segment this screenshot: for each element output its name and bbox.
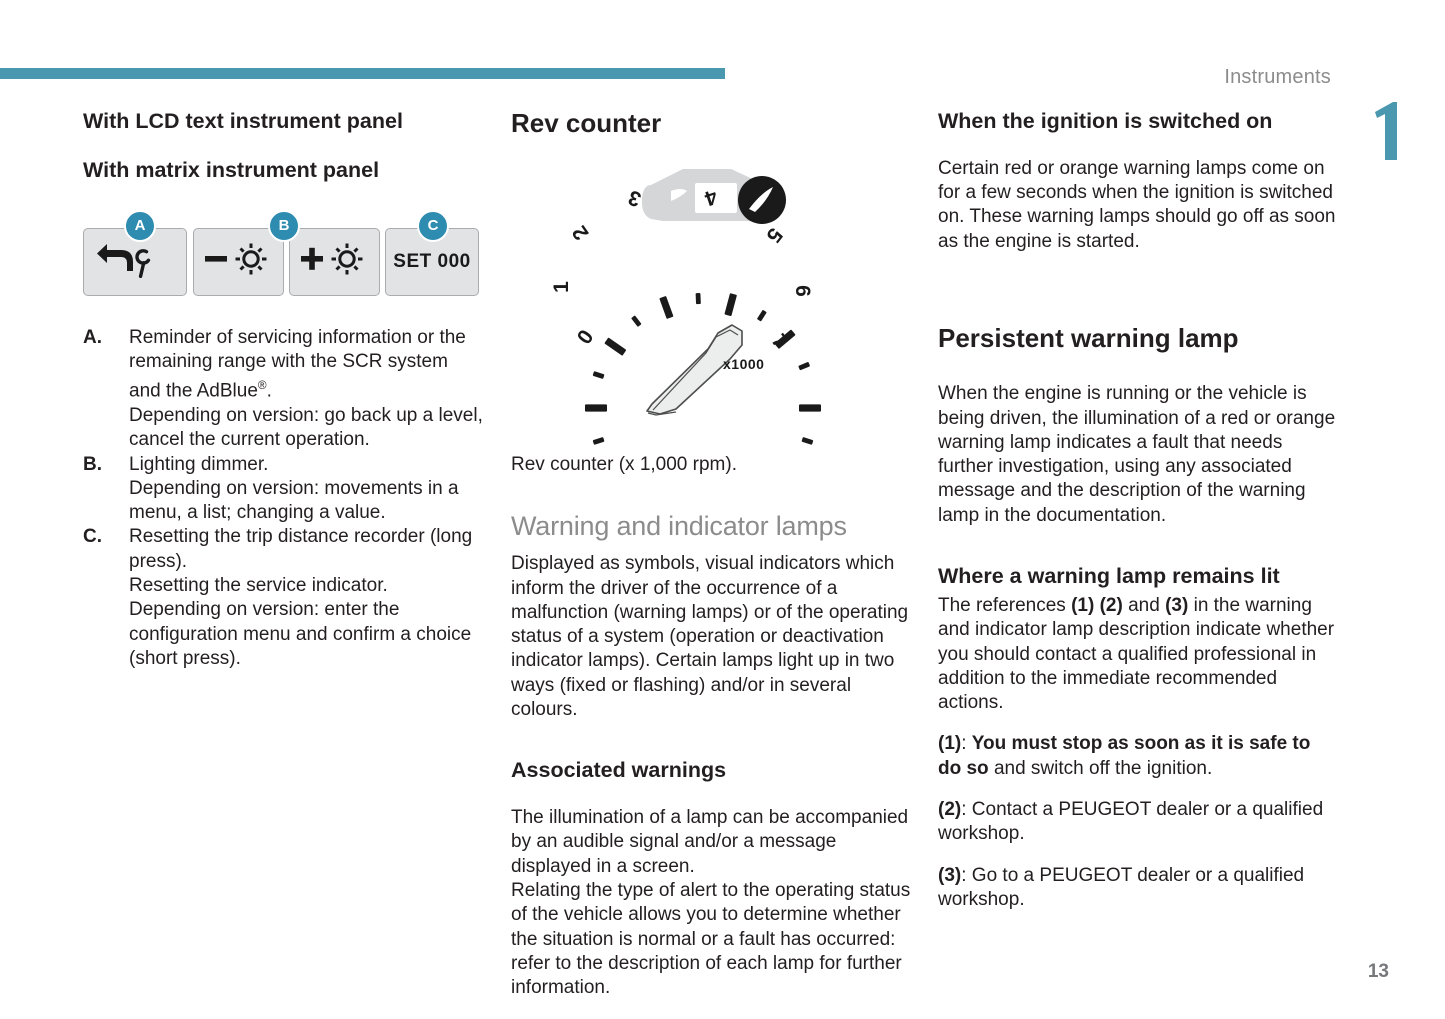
legend-b-line-2: Depending on version: movements in a men… bbox=[129, 477, 483, 526]
reference-3-marker: (3) bbox=[938, 865, 961, 886]
instrument-panel-buttons-figure: A B C .badge{left:41px} bbox=[83, 210, 479, 296]
reference-2-colon: : bbox=[961, 799, 972, 820]
minus-brightness-icon bbox=[203, 241, 275, 282]
heading-associated-warnings: Associated warnings bbox=[511, 757, 911, 784]
legend-a-line-1: Reminder of servicing information or the… bbox=[129, 326, 483, 404]
set-000-display: SET 000 bbox=[393, 251, 470, 273]
reference-note-1: (1): You must stop as soon as it is safe… bbox=[938, 732, 1336, 781]
legend-text-a: Reminder of servicing information or the… bbox=[129, 326, 483, 453]
reference-3-rest: Go to a PEUGEOT dealer or a qualified wo… bbox=[938, 865, 1304, 910]
chapter-number-marker bbox=[1373, 100, 1399, 162]
legend-key-a: A. bbox=[83, 326, 129, 350]
paragraph-warning-lamps-intro: Displayed as symbols, visual indicators … bbox=[511, 552, 911, 722]
callout-badge-a: A bbox=[124, 210, 156, 242]
heading-when-ignition-switched-on: When the ignition is switched on bbox=[938, 108, 1336, 135]
reference-note-2: (2): Contact a PEUGEOT dealer or a quali… bbox=[938, 798, 1336, 847]
paragraph-associated-2: Relating the type of alert to the operat… bbox=[511, 879, 911, 1000]
section-title-warning-indicator-lamps: Warning and indicator lamps bbox=[511, 511, 911, 542]
gauge-dial: 0 1 2 3 4 5 6 7 x1000 bbox=[550, 185, 821, 454]
legend-item-b: B. Lighting dimmer. Depending on version… bbox=[83, 453, 483, 526]
heading-where-warning-lamp-remains-lit: Where a warning lamp remains lit bbox=[938, 563, 1336, 590]
callout-badge-c: C bbox=[417, 210, 449, 242]
rev-counter-figure: 0 1 2 3 4 5 6 7 x1000 bbox=[511, 163, 911, 453]
reference-1-colon: : bbox=[961, 733, 972, 754]
legend-key-b: B. bbox=[83, 453, 129, 477]
button-b-dimmer-plus[interactable] bbox=[289, 228, 380, 296]
button-b-dimmer-minus[interactable] bbox=[193, 228, 284, 296]
heading-rev-counter: Rev counter bbox=[511, 108, 911, 139]
gauge-label-0: 0 bbox=[573, 326, 599, 349]
reference-1-marker: (1) bbox=[938, 733, 961, 754]
paragraph-ignition: Certain red or orange warning lamps come… bbox=[938, 157, 1336, 254]
back-arrow-and-spanner-icon bbox=[95, 240, 175, 283]
rev-counter-caption: Rev counter (x 1,000 rpm). bbox=[511, 453, 911, 477]
legend-text-c: Resetting the trip distance recorder (lo… bbox=[129, 525, 483, 671]
reference-1-rest: and switch off the ignition. bbox=[989, 758, 1213, 779]
column-right: When the ignition is switched on Certain… bbox=[938, 108, 1336, 929]
gauge-label-2: 2 bbox=[568, 222, 594, 245]
heading-lcd-text-instrument-panel: With LCD text instrument panel bbox=[83, 108, 483, 135]
legend-item-a: A. Reminder of servicing information or … bbox=[83, 326, 483, 453]
references-marker-12: (1) (2) bbox=[1071, 595, 1123, 616]
column-left: With LCD text instrument panel With matr… bbox=[83, 108, 483, 671]
references-part-c: and bbox=[1123, 595, 1165, 616]
reference-3-colon: : bbox=[961, 865, 972, 886]
column-middle: Rev counter bbox=[511, 108, 911, 1001]
reference-2-marker: (2) bbox=[938, 799, 961, 820]
paragraph-associated-1: The illumination of a lamp can be accomp… bbox=[511, 806, 911, 879]
legend-b-line-1: Lighting dimmer. bbox=[129, 453, 483, 477]
gauge-label-6: 6 bbox=[791, 285, 814, 297]
button-legend-list: A. Reminder of servicing information or … bbox=[83, 326, 483, 671]
gauge-label-5: 5 bbox=[761, 224, 787, 248]
page-number: 13 bbox=[1368, 961, 1389, 983]
reference-2-rest: Contact a PEUGEOT dealer or a qualified … bbox=[938, 799, 1323, 844]
gauge-label-1: 1 bbox=[550, 281, 573, 293]
callout-badge-b: B bbox=[268, 210, 300, 242]
gauge-label-7: 7 bbox=[767, 330, 793, 353]
header-accent-rule bbox=[0, 68, 725, 79]
legend-key-c: C. bbox=[83, 525, 129, 549]
legend-c-line-1: Resetting the trip distance recorder (lo… bbox=[129, 525, 483, 574]
legend-c-line-3: Depending on version: enter the configur… bbox=[129, 598, 483, 671]
paragraph-persistent: When the engine is running or the vehicl… bbox=[938, 382, 1336, 528]
legend-item-c: C. Resetting the trip distance recorder … bbox=[83, 525, 483, 671]
legend-c-line-2: Resetting the service indicator. bbox=[129, 574, 483, 598]
gauge-label-3: 3 bbox=[625, 185, 644, 211]
heading-matrix-instrument-panel: With matrix instrument panel bbox=[83, 157, 483, 184]
legend-text-b: Lighting dimmer. Depending on version: m… bbox=[129, 453, 483, 526]
paragraph-references: The references (1) (2) and (3) in the wa… bbox=[938, 594, 1336, 715]
plus-brightness-icon bbox=[299, 241, 371, 282]
references-marker-3: (3) bbox=[1165, 595, 1188, 616]
references-part-a: The references bbox=[938, 595, 1071, 616]
legend-a-line-2: Depending on version: go back up a level… bbox=[129, 404, 483, 453]
gauge-multiplier-label: x1000 bbox=[723, 356, 764, 372]
running-head: Instruments bbox=[1224, 66, 1331, 89]
heading-persistent-warning-lamp: Persistent warning lamp bbox=[938, 323, 1336, 354]
reference-note-3: (3): Go to a PEUGEOT dealer or a qualifi… bbox=[938, 864, 1336, 913]
